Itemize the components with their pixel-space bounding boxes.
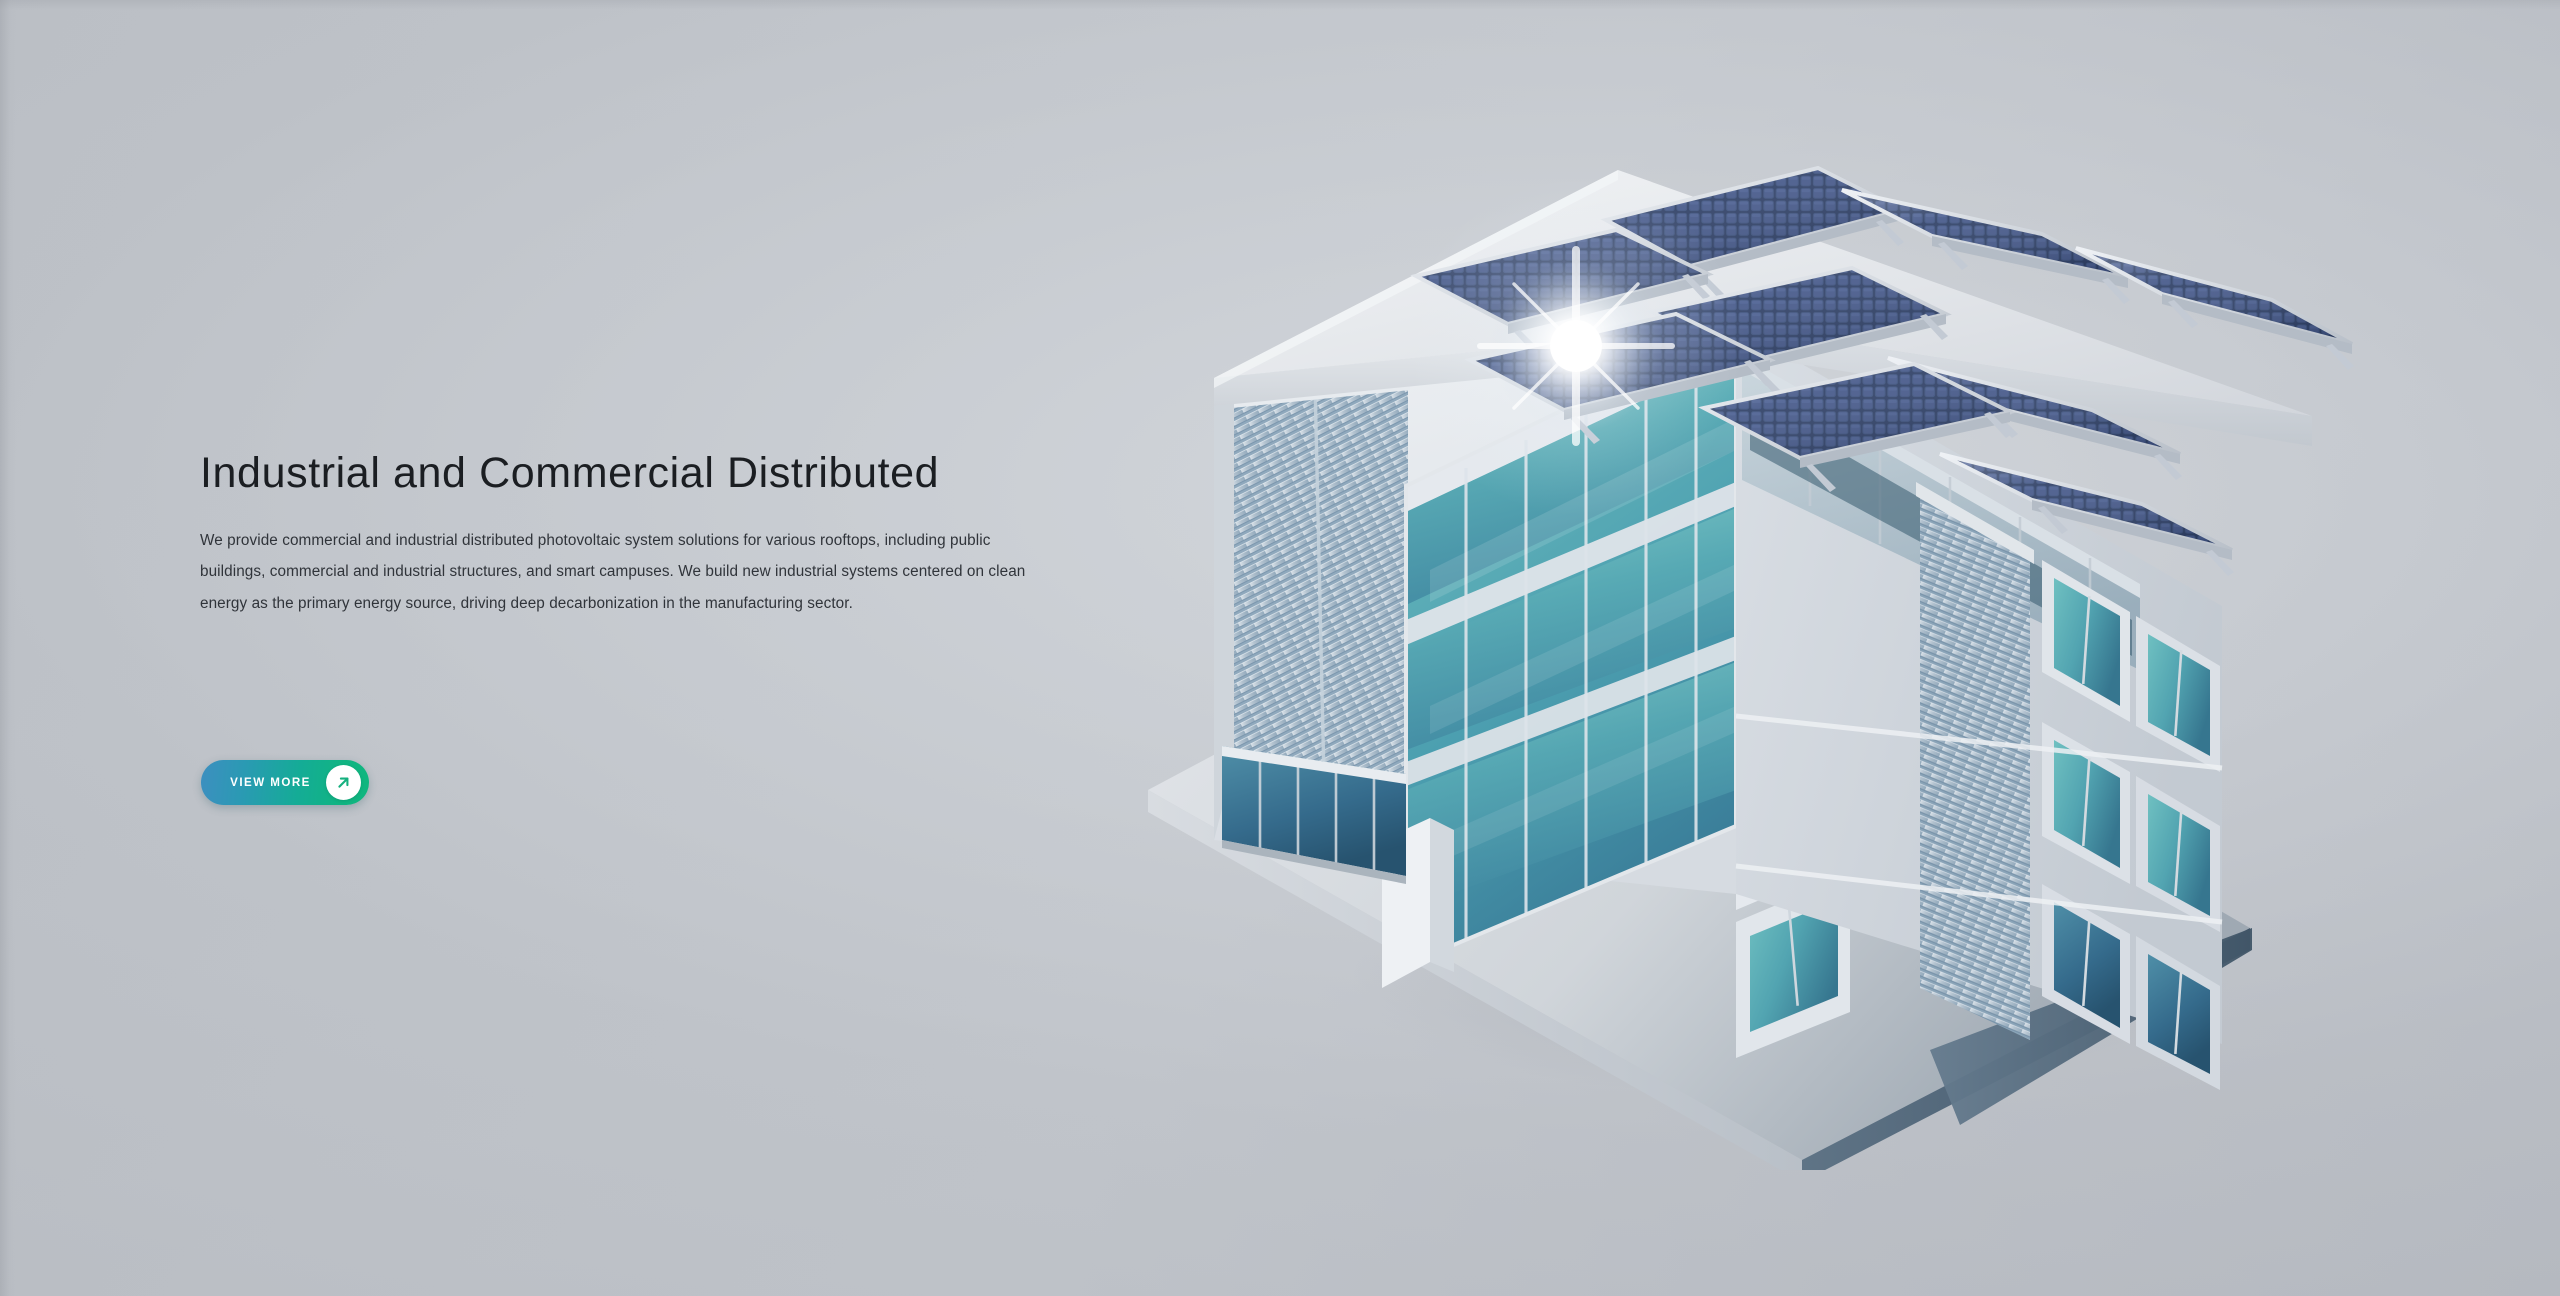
louver-screen-right [1916, 482, 2034, 1040]
left-edge-vignette [0, 0, 16, 1296]
page-title: Industrial and Commercial Distributed [200, 448, 1080, 499]
rooftop-solar-building-illustration [1130, 150, 2450, 1170]
top-edge-vignette [0, 0, 2560, 10]
view-more-label: VIEW MORE [201, 776, 326, 789]
sun-flare-icon [1406, 176, 1746, 516]
hero-description: We provide commercial and industrial dis… [200, 525, 1055, 620]
hero-copy-block: Industrial and Commercial Distributed We… [200, 448, 1080, 620]
view-more-button[interactable]: VIEW MORE [201, 760, 369, 805]
arrow-up-right-icon [326, 765, 361, 800]
